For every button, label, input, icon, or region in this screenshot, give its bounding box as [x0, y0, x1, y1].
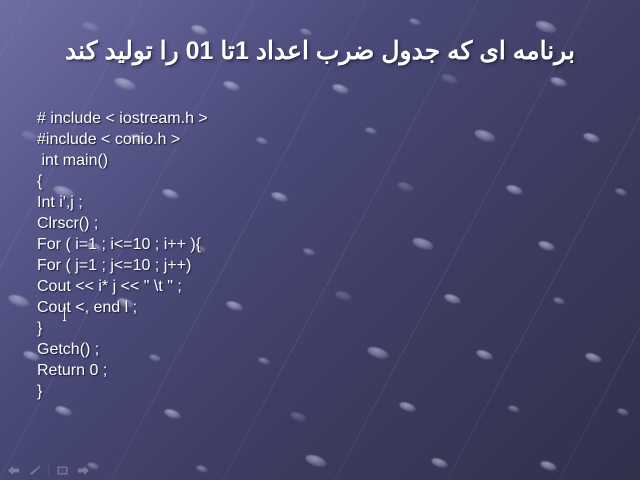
pattern-dash	[223, 79, 242, 92]
slide-title: برنامه ای که جدول ضرب اعداد 1تا 10 را تو…	[18, 34, 622, 68]
pattern-dash	[614, 188, 627, 198]
pattern-dash	[584, 351, 603, 364]
code-line: Cout <, end l ;	[37, 297, 467, 318]
code-line: #include < conio.h >	[37, 129, 467, 150]
code-line: Clrscr() ;	[37, 213, 467, 234]
pattern-dash	[0, 74, 1, 84]
presentation-slide: برنامه ای که جدول ضرب اعداد 1تا 10 را تو…	[0, 0, 640, 480]
pattern-dash	[430, 456, 449, 469]
previous-slide-button[interactable]	[6, 464, 21, 477]
pattern-dash	[472, 127, 496, 144]
pattern-dash	[550, 75, 569, 88]
pattern-dash	[475, 348, 494, 361]
pattern-dash	[332, 82, 351, 95]
code-line: }	[37, 318, 467, 339]
pattern-dash	[552, 296, 565, 306]
pattern-dash	[20, 129, 39, 142]
pattern-dash	[441, 72, 460, 85]
menu-box-icon	[56, 465, 69, 476]
code-block: # include < iostream.h >#include < conio…	[37, 108, 467, 402]
slide-menu-button[interactable]	[55, 464, 70, 477]
control-separator	[48, 465, 49, 476]
pattern-dash	[196, 464, 209, 474]
pattern-dash	[505, 184, 524, 197]
pattern-dash	[616, 408, 629, 418]
pattern-dash	[398, 401, 417, 414]
pattern-dash	[539, 459, 558, 472]
left-arrow-icon	[7, 465, 20, 476]
pattern-dash	[582, 131, 601, 144]
pattern-dash	[54, 405, 73, 418]
code-line: For ( i=1 ; i<=10 ; i++ ){	[37, 234, 467, 255]
code-line: For ( j=1 ; j<=10 ; j++)	[37, 255, 467, 276]
code-line: Cout << i* j << " \t " ;	[37, 276, 467, 297]
pattern-dash	[289, 411, 308, 424]
pattern-dash	[507, 405, 520, 415]
pattern-dash	[163, 408, 182, 421]
pattern-dash	[304, 453, 328, 470]
code-line: Int i',j ;	[37, 192, 467, 213]
pen-icon	[28, 465, 41, 476]
pattern-dash	[409, 17, 422, 27]
code-line: Return 0 ;	[37, 360, 467, 381]
pattern-dash	[113, 76, 137, 93]
pen-tool-button[interactable]	[27, 464, 42, 477]
code-line: }	[37, 381, 467, 402]
code-line: int main()	[37, 150, 467, 171]
code-line: {	[37, 171, 467, 192]
code-line: # include < iostream.h >	[37, 108, 467, 129]
next-slide-button[interactable]	[76, 464, 91, 477]
pattern-dash	[81, 21, 100, 34]
pattern-dash	[7, 292, 31, 309]
code-line: Getch() ;	[37, 339, 467, 360]
pattern-dash	[537, 240, 556, 253]
slideshow-control-bar[interactable]	[6, 464, 91, 477]
right-arrow-icon	[77, 465, 90, 476]
